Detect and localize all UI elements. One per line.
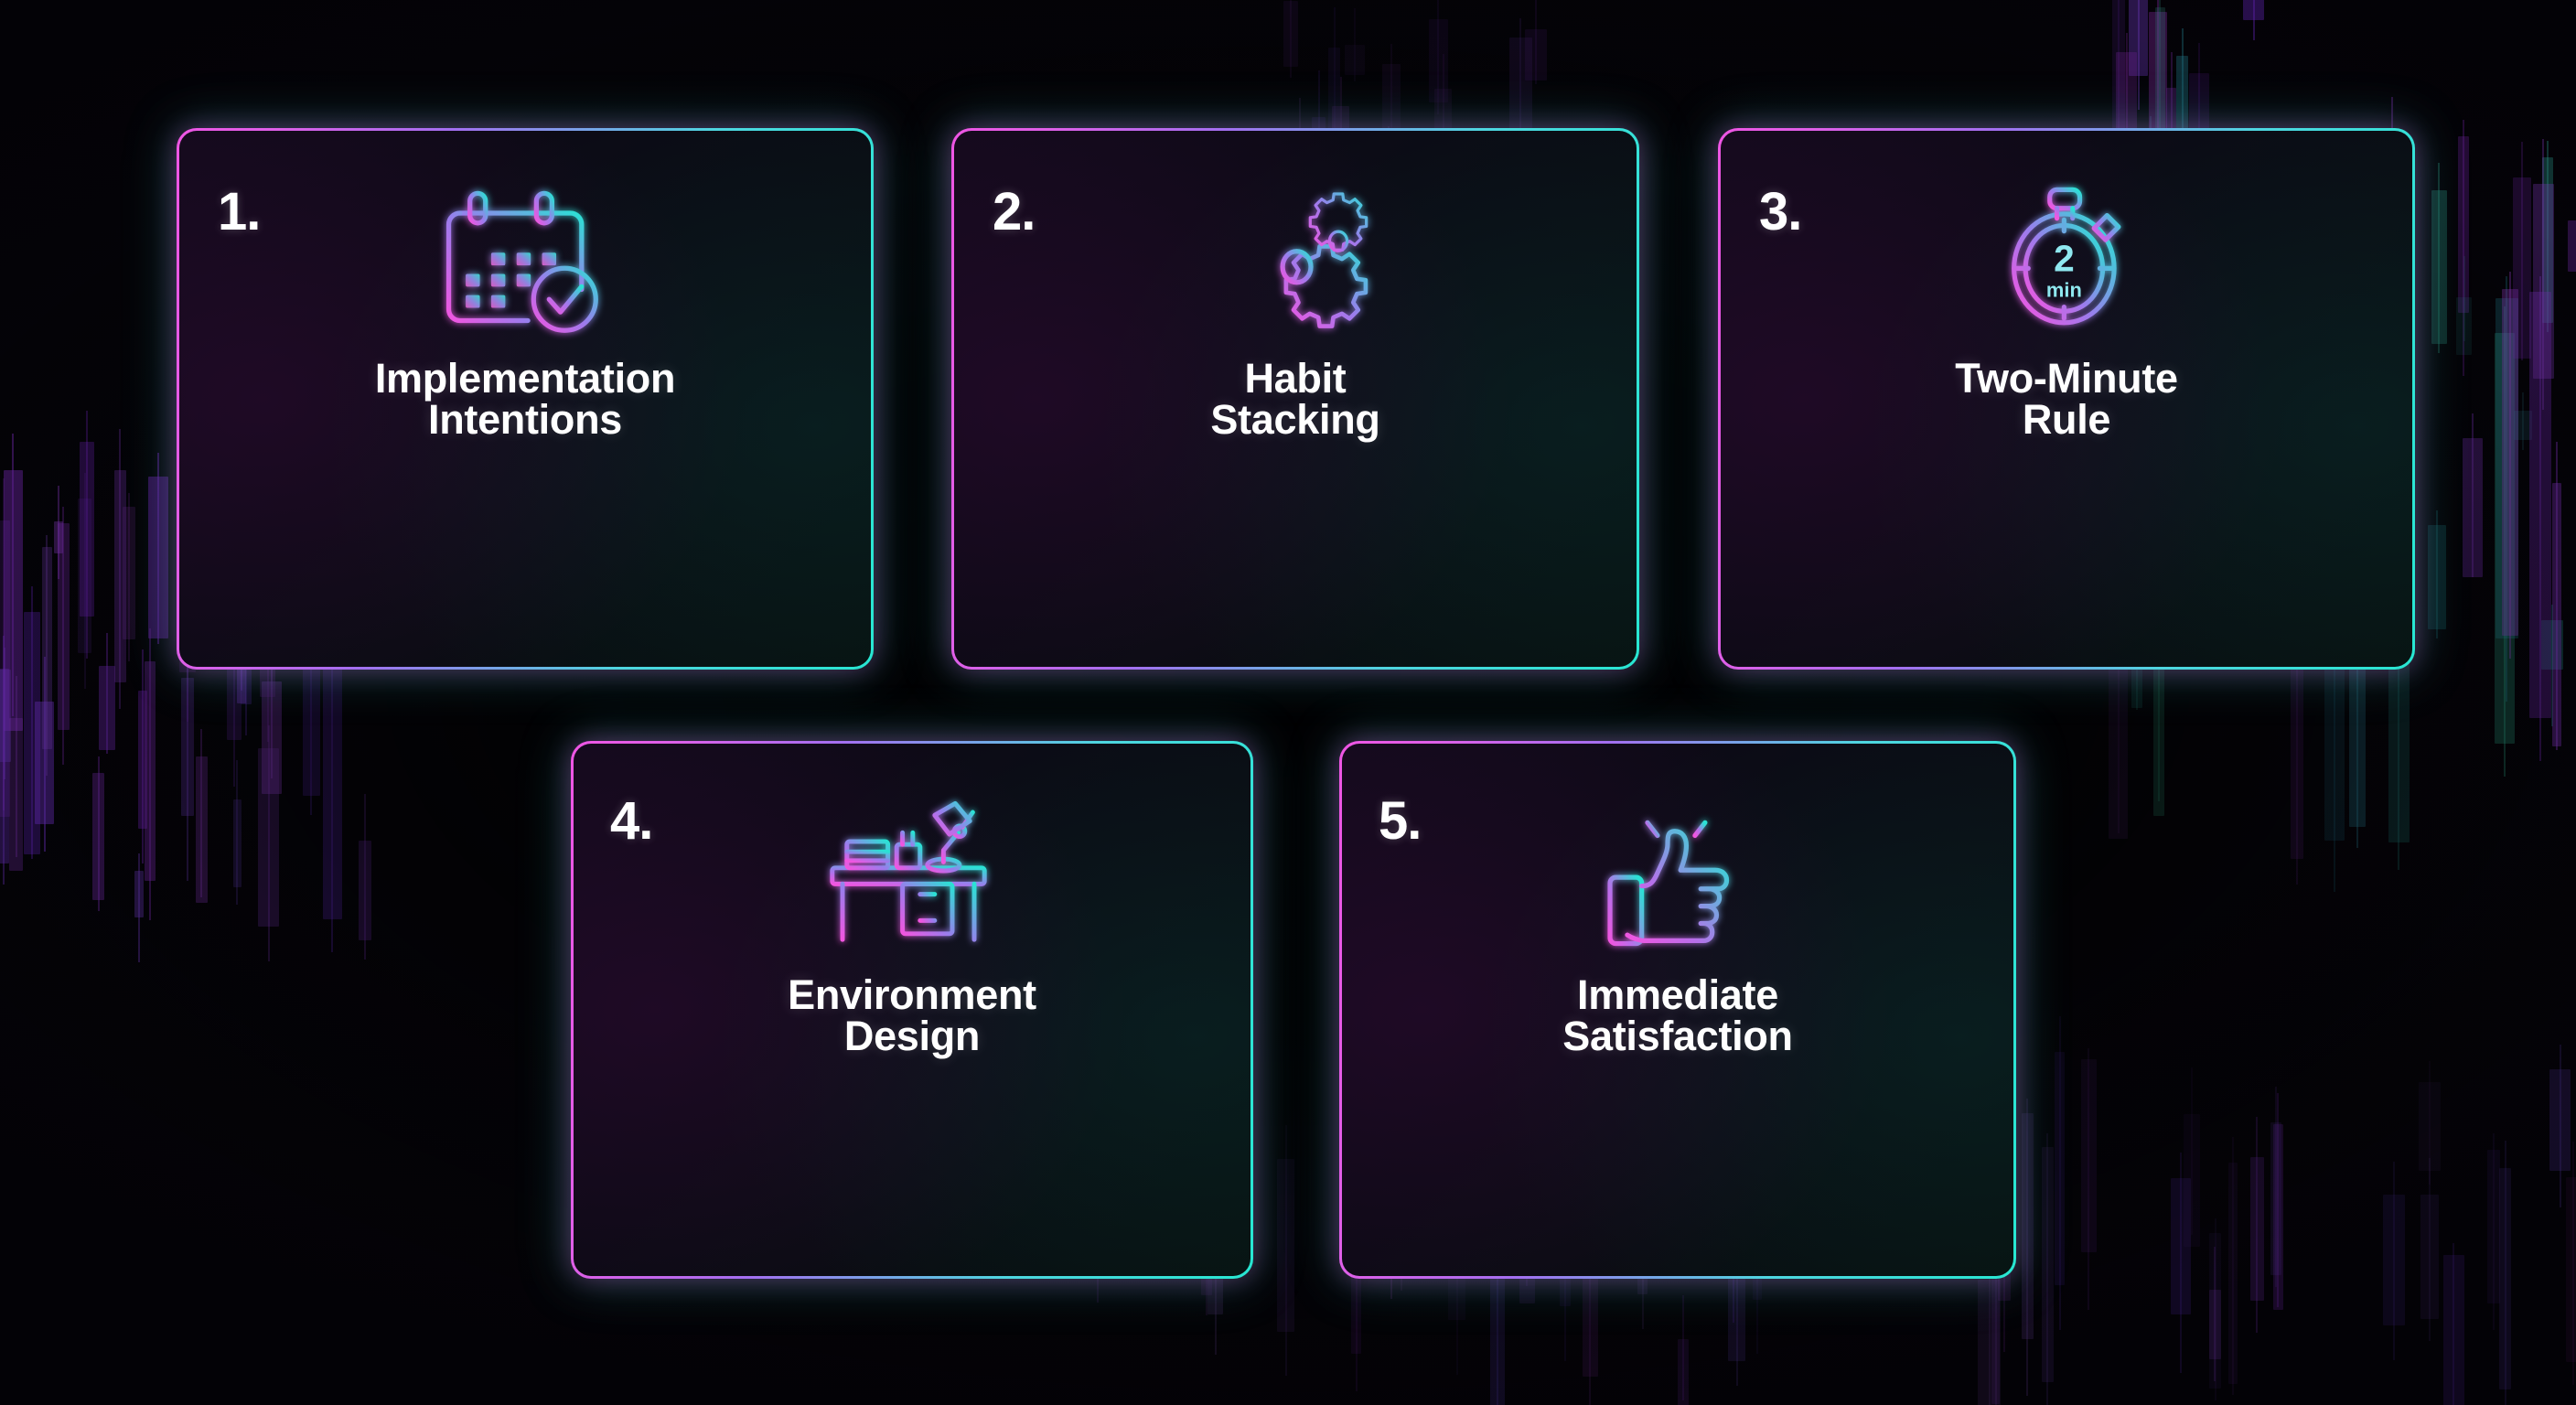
- stopwatch-icon: 2 min: [1982, 182, 2152, 338]
- card-title: Implementation Intentions: [355, 358, 695, 440]
- card-number: 3.: [1759, 186, 1801, 239]
- card-title: Immediate Satisfaction: [1542, 974, 1812, 1056]
- card-number: 2.: [993, 186, 1035, 239]
- card-number: 4.: [610, 795, 652, 848]
- technique-card-grid: 1.: [0, 0, 2576, 1405]
- card-number: 5.: [1379, 795, 1421, 848]
- stopwatch-unit: min: [2045, 279, 2081, 302]
- card-title: Two-Minute Rule: [1935, 358, 2198, 440]
- card-title: Environment Design: [767, 974, 1057, 1056]
- technique-card-2[interactable]: 2.: [951, 128, 1639, 670]
- calendar-check-icon: [438, 182, 612, 338]
- technique-card-1[interactable]: 1.: [177, 128, 874, 670]
- card-title: Habit Stacking: [1190, 358, 1400, 440]
- desk-lamp-icon: [821, 797, 1004, 952]
- card-number: 1.: [218, 186, 260, 239]
- thumbs-up-icon: [1595, 797, 1760, 952]
- stopwatch-value: 2: [2054, 238, 2075, 280]
- technique-card-4[interactable]: 4.: [571, 741, 1253, 1279]
- technique-card-3[interactable]: 3.: [1718, 128, 2415, 670]
- gears-icon: [1208, 182, 1382, 338]
- technique-card-5[interactable]: 5.: [1339, 741, 2016, 1279]
